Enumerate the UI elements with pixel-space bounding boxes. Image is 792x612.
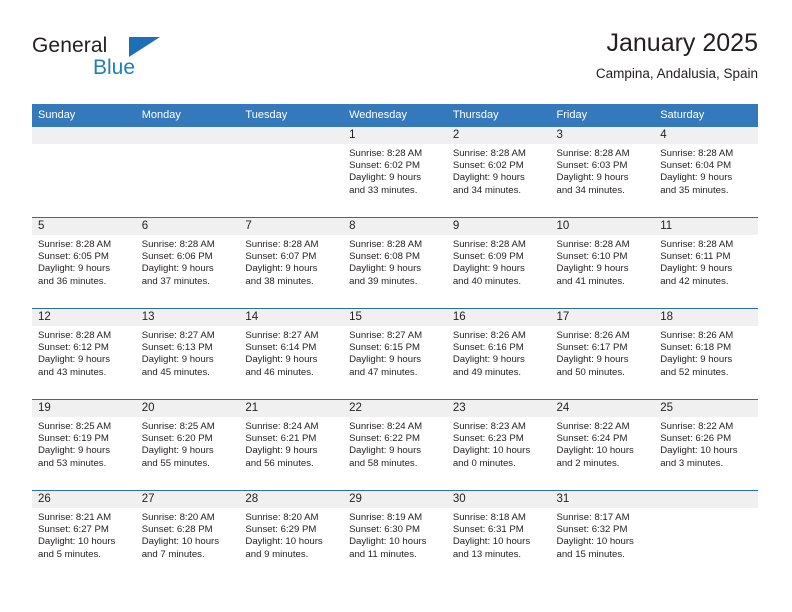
page-title: January 2025 [596, 28, 758, 58]
day-details: Sunrise: 8:19 AMSunset: 6:30 PMDaylight:… [343, 508, 447, 561]
day-details: Sunrise: 8:26 AMSunset: 6:17 PMDaylight:… [551, 326, 655, 379]
day-details: Sunrise: 8:23 AMSunset: 6:23 PMDaylight:… [447, 417, 551, 470]
day-details: Sunrise: 8:27 AMSunset: 6:14 PMDaylight:… [239, 326, 343, 379]
day-cell-inner: 5Sunrise: 8:28 AMSunset: 6:05 PMDaylight… [32, 218, 136, 308]
sunrise-text: Sunrise: 8:26 AM [660, 330, 752, 342]
daylight-text-line1: Daylight: 9 hours [38, 263, 130, 275]
day-cell-inner: 4Sunrise: 8:28 AMSunset: 6:04 PMDaylight… [654, 127, 758, 217]
daylight-text-line2: and 40 minutes. [453, 276, 545, 288]
day-cell-inner: 12Sunrise: 8:28 AMSunset: 6:12 PMDayligh… [32, 309, 136, 399]
calendar-week-row: 26Sunrise: 8:21 AMSunset: 6:27 PMDayligh… [32, 491, 758, 582]
calendar-week-row: 19Sunrise: 8:25 AMSunset: 6:19 PMDayligh… [32, 400, 758, 491]
sunrise-text: Sunrise: 8:28 AM [453, 239, 545, 251]
sunrise-text: Sunrise: 8:27 AM [245, 330, 337, 342]
calendar-day-cell[interactable]: 20Sunrise: 8:25 AMSunset: 6:20 PMDayligh… [136, 400, 240, 491]
sunset-text: Sunset: 6:24 PM [557, 433, 649, 445]
day-details: Sunrise: 8:28 AMSunset: 6:04 PMDaylight:… [654, 144, 758, 197]
day-number: 27 [136, 491, 240, 508]
day-details: Sunrise: 8:28 AMSunset: 6:07 PMDaylight:… [239, 235, 343, 288]
daylight-text-line1: Daylight: 9 hours [142, 263, 234, 275]
day-number: 29 [343, 491, 447, 508]
calendar-header-row: Sunday Monday Tuesday Wednesday Thursday… [32, 104, 758, 127]
day-details: Sunrise: 8:28 AMSunset: 6:03 PMDaylight:… [551, 144, 655, 197]
day-number: 15 [343, 309, 447, 326]
daylight-text-line1: Daylight: 9 hours [557, 263, 649, 275]
daylight-text-line1: Daylight: 9 hours [349, 263, 441, 275]
daylight-text-line1: Daylight: 9 hours [245, 263, 337, 275]
day-cell-inner: 30Sunrise: 8:18 AMSunset: 6:31 PMDayligh… [447, 491, 551, 581]
sunset-text: Sunset: 6:26 PM [660, 433, 752, 445]
daylight-text-line2: and 15 minutes. [557, 549, 649, 561]
sunrise-text: Sunrise: 8:20 AM [142, 512, 234, 524]
day-number: 12 [32, 309, 136, 326]
day-number: 17 [551, 309, 655, 326]
sunrise-text: Sunrise: 8:18 AM [453, 512, 545, 524]
sunset-text: Sunset: 6:32 PM [557, 524, 649, 536]
sunrise-text: Sunrise: 8:28 AM [38, 239, 130, 251]
calendar-day-cell[interactable]: 22Sunrise: 8:24 AMSunset: 6:22 PMDayligh… [343, 400, 447, 491]
day-number: 6 [136, 218, 240, 235]
calendar-day-cell[interactable]: 8Sunrise: 8:28 AMSunset: 6:08 PMDaylight… [343, 218, 447, 309]
day-details: Sunrise: 8:20 AMSunset: 6:28 PMDaylight:… [136, 508, 240, 561]
day-cell-inner: 16Sunrise: 8:26 AMSunset: 6:16 PMDayligh… [447, 309, 551, 399]
calendar-day-cell[interactable]: 17Sunrise: 8:26 AMSunset: 6:17 PMDayligh… [551, 309, 655, 400]
calendar-day-cell[interactable]: 5Sunrise: 8:28 AMSunset: 6:05 PMDaylight… [32, 218, 136, 309]
daylight-text-line1: Daylight: 9 hours [349, 354, 441, 366]
sunset-text: Sunset: 6:07 PM [245, 251, 337, 263]
day-details: Sunrise: 8:28 AMSunset: 6:11 PMDaylight:… [654, 235, 758, 288]
daylight-text-line2: and 13 minutes. [453, 549, 545, 561]
daylight-text-line1: Daylight: 9 hours [142, 354, 234, 366]
sunrise-text: Sunrise: 8:22 AM [557, 421, 649, 433]
calendar-day-cell[interactable]: 10Sunrise: 8:28 AMSunset: 6:10 PMDayligh… [551, 218, 655, 309]
sunrise-text: Sunrise: 8:25 AM [38, 421, 130, 433]
calendar-day-cell[interactable]: 23Sunrise: 8:23 AMSunset: 6:23 PMDayligh… [447, 400, 551, 491]
day-number: 28 [239, 491, 343, 508]
sunrise-text: Sunrise: 8:27 AM [349, 330, 441, 342]
daylight-text-line1: Daylight: 9 hours [142, 445, 234, 457]
day-details: Sunrise: 8:26 AMSunset: 6:16 PMDaylight:… [447, 326, 551, 379]
daylight-text-line1: Daylight: 10 hours [557, 445, 649, 457]
calendar-day-cell[interactable]: 13Sunrise: 8:27 AMSunset: 6:13 PMDayligh… [136, 309, 240, 400]
calendar-day-cell [32, 127, 136, 218]
day-number: 2 [447, 127, 551, 144]
daylight-text-line2: and 7 minutes. [142, 549, 234, 561]
sunrise-text: Sunrise: 8:24 AM [349, 421, 441, 433]
sunrise-text: Sunrise: 8:28 AM [349, 148, 441, 160]
sunrise-text: Sunrise: 8:28 AM [557, 148, 649, 160]
day-number: 30 [447, 491, 551, 508]
weekday-header-monday: Monday [136, 104, 240, 127]
daylight-text-line2: and 37 minutes. [142, 276, 234, 288]
day-details: Sunrise: 8:28 AMSunset: 6:08 PMDaylight:… [343, 235, 447, 288]
page-subtitle: Campina, Andalusia, Spain [596, 64, 758, 84]
sunset-text: Sunset: 6:11 PM [660, 251, 752, 263]
daylight-text-line1: Daylight: 9 hours [660, 263, 752, 275]
daylight-text-line2: and 34 minutes. [557, 185, 649, 197]
sunset-text: Sunset: 6:03 PM [557, 160, 649, 172]
day-cell-inner: 28Sunrise: 8:20 AMSunset: 6:29 PMDayligh… [239, 491, 343, 581]
sunset-text: Sunset: 6:18 PM [660, 342, 752, 354]
sunrise-text: Sunrise: 8:19 AM [349, 512, 441, 524]
day-cell-inner: 13Sunrise: 8:27 AMSunset: 6:13 PMDayligh… [136, 309, 240, 399]
sunrise-text: Sunrise: 8:17 AM [557, 512, 649, 524]
day-cell-inner [136, 127, 240, 217]
day-details: Sunrise: 8:25 AMSunset: 6:20 PMDaylight:… [136, 417, 240, 470]
day-details: Sunrise: 8:26 AMSunset: 6:18 PMDaylight:… [654, 326, 758, 379]
daylight-text-line1: Daylight: 9 hours [557, 172, 649, 184]
calendar-table: Sunday Monday Tuesday Wednesday Thursday… [32, 104, 758, 581]
daylight-text-line2: and 5 minutes. [38, 549, 130, 561]
day-cell-inner: 3Sunrise: 8:28 AMSunset: 6:03 PMDaylight… [551, 127, 655, 217]
sunrise-text: Sunrise: 8:28 AM [660, 148, 752, 160]
daylight-text-line1: Daylight: 10 hours [142, 536, 234, 548]
day-number: 9 [447, 218, 551, 235]
weekday-header-sunday: Sunday [32, 104, 136, 127]
daylight-text-line1: Daylight: 9 hours [660, 354, 752, 366]
daylight-text-line1: Daylight: 9 hours [557, 354, 649, 366]
daylight-text-line2: and 11 minutes. [349, 549, 441, 561]
day-cell-inner: 15Sunrise: 8:27 AMSunset: 6:15 PMDayligh… [343, 309, 447, 399]
day-number: 3 [551, 127, 655, 144]
day-cell-inner: 24Sunrise: 8:22 AMSunset: 6:24 PMDayligh… [551, 400, 655, 490]
calendar-day-cell[interactable]: 4Sunrise: 8:28 AMSunset: 6:04 PMDaylight… [654, 127, 758, 218]
daylight-text-line1: Daylight: 10 hours [453, 536, 545, 548]
sunrise-text: Sunrise: 8:25 AM [142, 421, 234, 433]
sunset-text: Sunset: 6:27 PM [38, 524, 130, 536]
day-details: Sunrise: 8:27 AMSunset: 6:13 PMDaylight:… [136, 326, 240, 379]
day-number: 21 [239, 400, 343, 417]
day-number: 18 [654, 309, 758, 326]
daylight-text-line2: and 46 minutes. [245, 367, 337, 379]
logo-triangle-icon [129, 37, 160, 57]
daylight-text-line1: Daylight: 10 hours [557, 536, 649, 548]
daylight-text-line1: Daylight: 9 hours [349, 172, 441, 184]
sunrise-text: Sunrise: 8:28 AM [557, 239, 649, 251]
daylight-text-line1: Daylight: 10 hours [38, 536, 130, 548]
day-cell-inner: 6Sunrise: 8:28 AMSunset: 6:06 PMDaylight… [136, 218, 240, 308]
day-cell-inner: 2Sunrise: 8:28 AMSunset: 6:02 PMDaylight… [447, 127, 551, 217]
calendar-day-cell[interactable]: 6Sunrise: 8:28 AMSunset: 6:06 PMDaylight… [136, 218, 240, 309]
sunset-text: Sunset: 6:21 PM [245, 433, 337, 445]
day-number: 19 [32, 400, 136, 417]
day-cell-inner [654, 491, 758, 581]
daylight-text-line2: and 39 minutes. [349, 276, 441, 288]
calendar-day-cell[interactable]: 18Sunrise: 8:26 AMSunset: 6:18 PMDayligh… [654, 309, 758, 400]
sunrise-text: Sunrise: 8:28 AM [245, 239, 337, 251]
day-number [654, 491, 758, 508]
daylight-text-line2: and 53 minutes. [38, 458, 130, 470]
weekday-header-saturday: Saturday [654, 104, 758, 127]
sunset-text: Sunset: 6:22 PM [349, 433, 441, 445]
daylight-text-line2: and 47 minutes. [349, 367, 441, 379]
day-cell-inner: 29Sunrise: 8:19 AMSunset: 6:30 PMDayligh… [343, 491, 447, 581]
daylight-text-line2: and 50 minutes. [557, 367, 649, 379]
day-cell-inner: 22Sunrise: 8:24 AMSunset: 6:22 PMDayligh… [343, 400, 447, 490]
day-cell-inner: 21Sunrise: 8:24 AMSunset: 6:21 PMDayligh… [239, 400, 343, 490]
day-cell-inner: 25Sunrise: 8:22 AMSunset: 6:26 PMDayligh… [654, 400, 758, 490]
day-number: 26 [32, 491, 136, 508]
sunset-text: Sunset: 6:19 PM [38, 433, 130, 445]
calendar-week-row: 5Sunrise: 8:28 AMSunset: 6:05 PMDaylight… [32, 218, 758, 309]
day-number: 1 [343, 127, 447, 144]
day-details: Sunrise: 8:28 AMSunset: 6:10 PMDaylight:… [551, 235, 655, 288]
daylight-text-line2: and 9 minutes. [245, 549, 337, 561]
weekday-header-tuesday: Tuesday [239, 104, 343, 127]
sunset-text: Sunset: 6:06 PM [142, 251, 234, 263]
daylight-text-line2: and 3 minutes. [660, 458, 752, 470]
daylight-text-line1: Daylight: 9 hours [349, 445, 441, 457]
sunset-text: Sunset: 6:08 PM [349, 251, 441, 263]
day-number: 5 [32, 218, 136, 235]
daylight-text-line1: Daylight: 9 hours [245, 445, 337, 457]
calendar-day-cell[interactable]: 29Sunrise: 8:19 AMSunset: 6:30 PMDayligh… [343, 491, 447, 582]
daylight-text-line1: Daylight: 9 hours [660, 172, 752, 184]
sunset-text: Sunset: 6:10 PM [557, 251, 649, 263]
calendar-day-cell[interactable]: 26Sunrise: 8:21 AMSunset: 6:27 PMDayligh… [32, 491, 136, 582]
day-cell-inner: 14Sunrise: 8:27 AMSunset: 6:14 PMDayligh… [239, 309, 343, 399]
sunrise-text: Sunrise: 8:28 AM [349, 239, 441, 251]
sunrise-text: Sunrise: 8:28 AM [142, 239, 234, 251]
daylight-text-line1: Daylight: 9 hours [245, 354, 337, 366]
sunset-text: Sunset: 6:02 PM [349, 160, 441, 172]
day-details: Sunrise: 8:28 AMSunset: 6:05 PMDaylight:… [32, 235, 136, 288]
day-number: 13 [136, 309, 240, 326]
sunset-text: Sunset: 6:04 PM [660, 160, 752, 172]
weekday-header-wednesday: Wednesday [343, 104, 447, 127]
day-cell-inner [239, 127, 343, 217]
calendar-week-row: 1Sunrise: 8:28 AMSunset: 6:02 PMDaylight… [32, 127, 758, 218]
weekday-header-thursday: Thursday [447, 104, 551, 127]
calendar-day-cell[interactable]: 1Sunrise: 8:28 AMSunset: 6:02 PMDaylight… [343, 127, 447, 218]
day-details: Sunrise: 8:21 AMSunset: 6:27 PMDaylight:… [32, 508, 136, 561]
day-details: Sunrise: 8:28 AMSunset: 6:02 PMDaylight:… [447, 144, 551, 197]
daylight-text-line2: and 0 minutes. [453, 458, 545, 470]
calendar-day-cell[interactable]: 15Sunrise: 8:27 AMSunset: 6:15 PMDayligh… [343, 309, 447, 400]
day-number: 11 [654, 218, 758, 235]
day-cell-inner: 11Sunrise: 8:28 AMSunset: 6:11 PMDayligh… [654, 218, 758, 308]
day-details: Sunrise: 8:20 AMSunset: 6:29 PMDaylight:… [239, 508, 343, 561]
page-header: General Blue January 2025 Campina, Andal… [32, 28, 758, 96]
title-block: January 2025 Campina, Andalusia, Spain [596, 28, 758, 84]
calendar-day-cell [136, 127, 240, 218]
weekday-header-friday: Friday [551, 104, 655, 127]
day-cell-inner: 26Sunrise: 8:21 AMSunset: 6:27 PMDayligh… [32, 491, 136, 581]
day-number [136, 127, 240, 144]
sunset-text: Sunset: 6:20 PM [142, 433, 234, 445]
sunset-text: Sunset: 6:30 PM [349, 524, 441, 536]
calendar-day-cell[interactable]: 24Sunrise: 8:22 AMSunset: 6:24 PMDayligh… [551, 400, 655, 491]
day-number: 10 [551, 218, 655, 235]
generalblue-logo[interactable]: General Blue [32, 34, 212, 90]
day-cell-inner: 27Sunrise: 8:20 AMSunset: 6:28 PMDayligh… [136, 491, 240, 581]
sunrise-text: Sunrise: 8:22 AM [660, 421, 752, 433]
daylight-text-line2: and 33 minutes. [349, 185, 441, 197]
day-number: 22 [343, 400, 447, 417]
day-number: 31 [551, 491, 655, 508]
sunset-text: Sunset: 6:12 PM [38, 342, 130, 354]
daylight-text-line2: and 55 minutes. [142, 458, 234, 470]
day-cell-inner: 31Sunrise: 8:17 AMSunset: 6:32 PMDayligh… [551, 491, 655, 581]
sunrise-text: Sunrise: 8:26 AM [557, 330, 649, 342]
daylight-text-line1: Daylight: 9 hours [38, 445, 130, 457]
daylight-text-line1: Daylight: 10 hours [660, 445, 752, 457]
calendar-day-cell[interactable]: 9Sunrise: 8:28 AMSunset: 6:09 PMDaylight… [447, 218, 551, 309]
sunrise-text: Sunrise: 8:21 AM [38, 512, 130, 524]
day-details: Sunrise: 8:25 AMSunset: 6:19 PMDaylight:… [32, 417, 136, 470]
day-cell-inner: 18Sunrise: 8:26 AMSunset: 6:18 PMDayligh… [654, 309, 758, 399]
day-number [239, 127, 343, 144]
sunset-text: Sunset: 6:17 PM [557, 342, 649, 354]
sunset-text: Sunset: 6:05 PM [38, 251, 130, 263]
day-cell-inner: 8Sunrise: 8:28 AMSunset: 6:08 PMDaylight… [343, 218, 447, 308]
sunset-text: Sunset: 6:29 PM [245, 524, 337, 536]
daylight-text-line2: and 45 minutes. [142, 367, 234, 379]
day-cell-inner: 17Sunrise: 8:26 AMSunset: 6:17 PMDayligh… [551, 309, 655, 399]
day-cell-inner: 23Sunrise: 8:23 AMSunset: 6:23 PMDayligh… [447, 400, 551, 490]
day-cell-inner: 19Sunrise: 8:25 AMSunset: 6:19 PMDayligh… [32, 400, 136, 490]
day-number: 25 [654, 400, 758, 417]
daylight-text-line2: and 49 minutes. [453, 367, 545, 379]
sunrise-text: Sunrise: 8:23 AM [453, 421, 545, 433]
logo-text-blue: Blue [93, 56, 135, 80]
calendar-day-cell [654, 491, 758, 582]
calendar-day-cell[interactable]: 3Sunrise: 8:28 AMSunset: 6:03 PMDaylight… [551, 127, 655, 218]
calendar-day-cell[interactable]: 27Sunrise: 8:20 AMSunset: 6:28 PMDayligh… [136, 491, 240, 582]
daylight-text-line2: and 38 minutes. [245, 276, 337, 288]
day-number: 16 [447, 309, 551, 326]
calendar-day-cell[interactable]: 7Sunrise: 8:28 AMSunset: 6:07 PMDaylight… [239, 218, 343, 309]
day-details: Sunrise: 8:22 AMSunset: 6:26 PMDaylight:… [654, 417, 758, 470]
sunrise-text: Sunrise: 8:28 AM [38, 330, 130, 342]
day-cell-inner [32, 127, 136, 217]
sunrise-text: Sunrise: 8:27 AM [142, 330, 234, 342]
daylight-text-line2: and 43 minutes. [38, 367, 130, 379]
day-cell-inner: 1Sunrise: 8:28 AMSunset: 6:02 PMDaylight… [343, 127, 447, 217]
daylight-text-line2: and 41 minutes. [557, 276, 649, 288]
day-details: Sunrise: 8:18 AMSunset: 6:31 PMDaylight:… [447, 508, 551, 561]
daylight-text-line2: and 56 minutes. [245, 458, 337, 470]
sunrise-text: Sunrise: 8:28 AM [660, 239, 752, 251]
calendar-day-cell[interactable]: 12Sunrise: 8:28 AMSunset: 6:12 PMDayligh… [32, 309, 136, 400]
calendar-day-cell[interactable]: 28Sunrise: 8:20 AMSunset: 6:29 PMDayligh… [239, 491, 343, 582]
daylight-text-line2: and 34 minutes. [453, 185, 545, 197]
day-details: Sunrise: 8:28 AMSunset: 6:12 PMDaylight:… [32, 326, 136, 379]
day-number: 7 [239, 218, 343, 235]
day-cell-inner: 10Sunrise: 8:28 AMSunset: 6:10 PMDayligh… [551, 218, 655, 308]
sunset-text: Sunset: 6:28 PM [142, 524, 234, 536]
day-details: Sunrise: 8:28 AMSunset: 6:09 PMDaylight:… [447, 235, 551, 288]
daylight-text-line2: and 36 minutes. [38, 276, 130, 288]
calendar-body: 1Sunrise: 8:28 AMSunset: 6:02 PMDaylight… [32, 127, 758, 581]
daylight-text-line1: Daylight: 9 hours [453, 172, 545, 184]
calendar-day-cell[interactable]: 21Sunrise: 8:24 AMSunset: 6:21 PMDayligh… [239, 400, 343, 491]
day-number [32, 127, 136, 144]
calendar-day-cell[interactable]: 16Sunrise: 8:26 AMSunset: 6:16 PMDayligh… [447, 309, 551, 400]
day-details: Sunrise: 8:27 AMSunset: 6:15 PMDaylight:… [343, 326, 447, 379]
day-details: Sunrise: 8:24 AMSunset: 6:22 PMDaylight:… [343, 417, 447, 470]
calendar-day-cell[interactable]: 25Sunrise: 8:22 AMSunset: 6:26 PMDayligh… [654, 400, 758, 491]
sunrise-text: Sunrise: 8:24 AM [245, 421, 337, 433]
sunset-text: Sunset: 6:09 PM [453, 251, 545, 263]
day-cell-inner: 7Sunrise: 8:28 AMSunset: 6:07 PMDaylight… [239, 218, 343, 308]
day-number: 24 [551, 400, 655, 417]
day-details: Sunrise: 8:24 AMSunset: 6:21 PMDaylight:… [239, 417, 343, 470]
calendar-day-cell[interactable]: 11Sunrise: 8:28 AMSunset: 6:11 PMDayligh… [654, 218, 758, 309]
sunset-text: Sunset: 6:13 PM [142, 342, 234, 354]
sunrise-text: Sunrise: 8:20 AM [245, 512, 337, 524]
daylight-text-line1: Daylight: 10 hours [349, 536, 441, 548]
day-number: 8 [343, 218, 447, 235]
calendar-day-cell[interactable]: 2Sunrise: 8:28 AMSunset: 6:02 PMDaylight… [447, 127, 551, 218]
daylight-text-line1: Daylight: 9 hours [453, 263, 545, 275]
day-number: 14 [239, 309, 343, 326]
sunset-text: Sunset: 6:23 PM [453, 433, 545, 445]
daylight-text-line2: and 2 minutes. [557, 458, 649, 470]
daylight-text-line1: Daylight: 10 hours [453, 445, 545, 457]
day-number: 20 [136, 400, 240, 417]
day-details: Sunrise: 8:28 AMSunset: 6:02 PMDaylight:… [343, 144, 447, 197]
daylight-text-line1: Daylight: 9 hours [38, 354, 130, 366]
day-details: Sunrise: 8:28 AMSunset: 6:06 PMDaylight:… [136, 235, 240, 288]
calendar-day-cell[interactable]: 14Sunrise: 8:27 AMSunset: 6:14 PMDayligh… [239, 309, 343, 400]
daylight-text-line1: Daylight: 10 hours [245, 536, 337, 548]
daylight-text-line2: and 58 minutes. [349, 458, 441, 470]
sunrise-text: Sunrise: 8:26 AM [453, 330, 545, 342]
sunset-text: Sunset: 6:02 PM [453, 160, 545, 172]
daylight-text-line2: and 35 minutes. [660, 185, 752, 197]
day-cell-inner: 20Sunrise: 8:25 AMSunset: 6:20 PMDayligh… [136, 400, 240, 490]
day-number: 23 [447, 400, 551, 417]
daylight-text-line2: and 52 minutes. [660, 367, 752, 379]
sunset-text: Sunset: 6:14 PM [245, 342, 337, 354]
daylight-text-line2: and 42 minutes. [660, 276, 752, 288]
sunset-text: Sunset: 6:15 PM [349, 342, 441, 354]
calendar-page: General Blue January 2025 Campina, Andal… [0, 0, 792, 612]
sunrise-text: Sunrise: 8:28 AM [453, 148, 545, 160]
calendar-week-row: 12Sunrise: 8:28 AMSunset: 6:12 PMDayligh… [32, 309, 758, 400]
day-details: Sunrise: 8:17 AMSunset: 6:32 PMDaylight:… [551, 508, 655, 561]
calendar-day-cell[interactable]: 31Sunrise: 8:17 AMSunset: 6:32 PMDayligh… [551, 491, 655, 582]
day-cell-inner: 9Sunrise: 8:28 AMSunset: 6:09 PMDaylight… [447, 218, 551, 308]
logo-text-general: General [32, 34, 107, 58]
calendar-day-cell[interactable]: 30Sunrise: 8:18 AMSunset: 6:31 PMDayligh… [447, 491, 551, 582]
sunset-text: Sunset: 6:31 PM [453, 524, 545, 536]
day-details: Sunrise: 8:22 AMSunset: 6:24 PMDaylight:… [551, 417, 655, 470]
sunset-text: Sunset: 6:16 PM [453, 342, 545, 354]
calendar-day-cell[interactable]: 19Sunrise: 8:25 AMSunset: 6:19 PMDayligh… [32, 400, 136, 491]
calendar-day-cell [239, 127, 343, 218]
daylight-text-line1: Daylight: 9 hours [453, 354, 545, 366]
day-number: 4 [654, 127, 758, 144]
